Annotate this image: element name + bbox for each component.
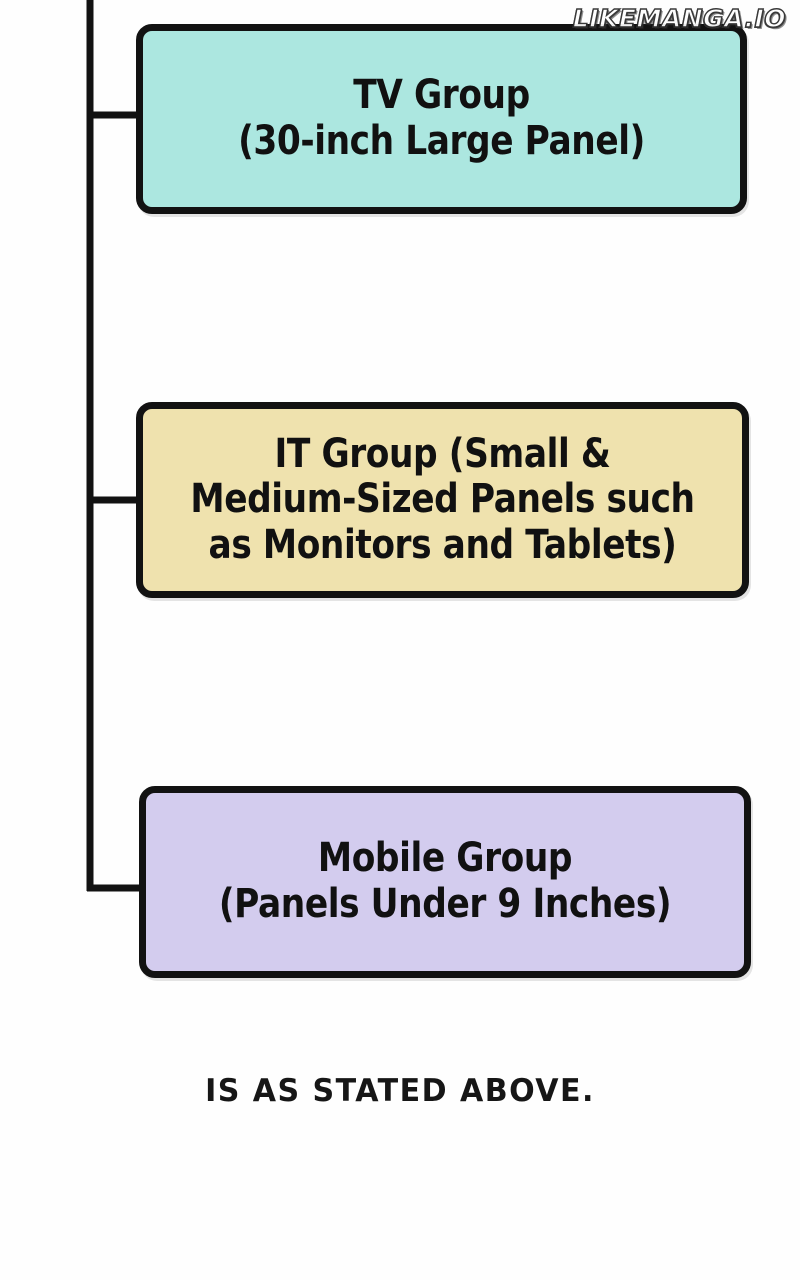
group-box-tv-label: TV Group (30-inch Large Panel) — [185, 73, 698, 164]
group-box-mobile-label: Mobile Group (Panels Under 9 Inches) — [188, 836, 702, 927]
comic-panel: TV Group (30-inch Large Panel) IT Group … — [0, 0, 800, 1280]
group-box-it-label: IT Group (Small & Medium-Sized Panels su… — [185, 432, 700, 569]
site-watermark: LIKEMANGA.IO — [573, 4, 786, 33]
group-box-tv: TV Group (30-inch Large Panel) — [136, 24, 747, 214]
group-box-it: IT Group (Small & Medium-Sized Panels su… — [136, 402, 749, 598]
panel-caption: IS AS STATED ABOVE. — [12, 1073, 788, 1109]
group-box-mobile: Mobile Group (Panels Under 9 Inches) — [139, 786, 751, 978]
